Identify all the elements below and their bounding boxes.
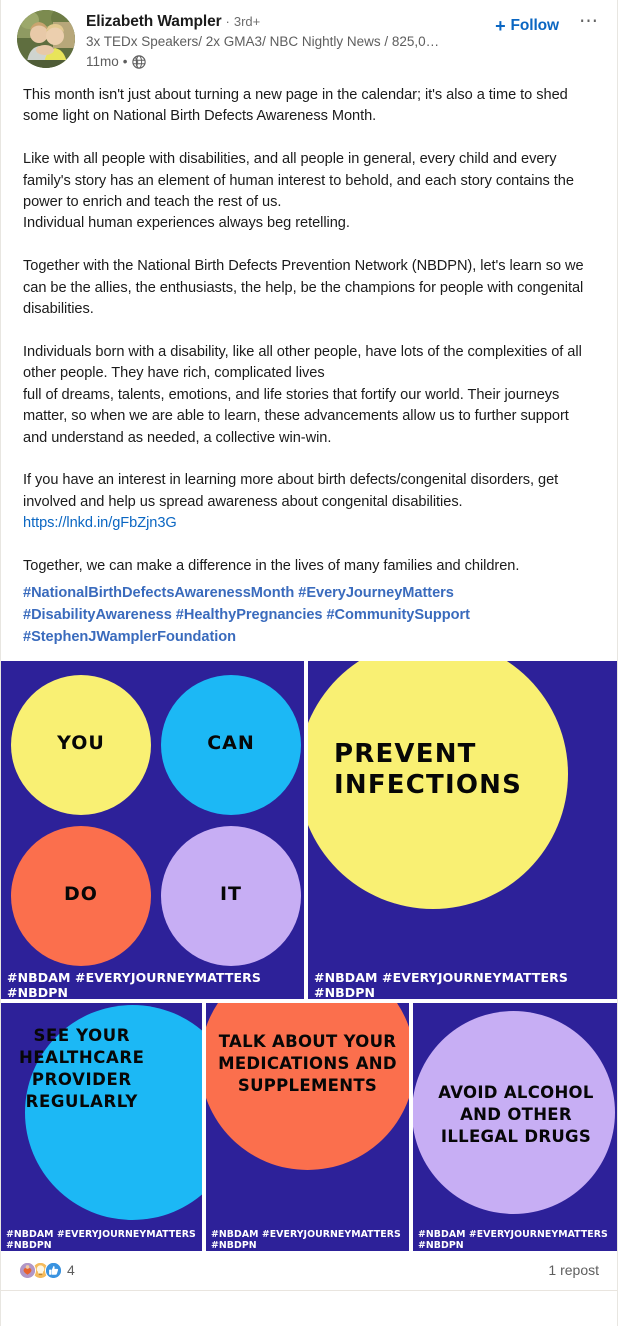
post-timestamp: 11mo [86, 52, 119, 71]
name-separator: · [222, 12, 234, 31]
social-counts-bar: 4 1 repost [1, 1251, 617, 1291]
panel-prevent-infections[interactable]: PREVENT INFECTIONS #NBDAM #EVERYJOURNEYM… [308, 661, 618, 999]
author-identity: Elizabeth Wampler · 3rd+ 3x TEDx Speaker… [75, 10, 493, 71]
hashtag-bar-3: #NBDAM #EVERYJOURNEYMATTERS #NBDPN [1, 1229, 202, 1251]
circle-do: DO [11, 826, 151, 966]
header-actions: + Follow ⋯ [493, 10, 603, 37]
post-text: This month isn't just about turning a ne… [1, 71, 617, 583]
post-header: Elizabeth Wampler · 3rd+ 3x TEDx Speaker… [1, 0, 617, 71]
paragraph-1: This month isn't just about turning a ne… [23, 87, 568, 124]
reactions-group[interactable]: 4 [19, 1262, 75, 1279]
meta-separator: • [119, 52, 132, 71]
panel-healthcare-label: SEE YOUR HEALTHCARE PROVIDER REGULARLY [1, 1025, 145, 1113]
avatar[interactable] [17, 10, 75, 68]
more-options-button[interactable]: ⋯ [575, 15, 603, 34]
connection-degree: 3rd+ [234, 12, 260, 31]
paragraph-4: Individuals born with a disability, like… [23, 344, 582, 446]
follow-button[interactable]: + Follow [493, 15, 561, 37]
support-heart-icon [19, 1262, 36, 1279]
plus-icon: + [495, 19, 505, 33]
paragraph-5-before-link: If you have an interest in learning more… [23, 472, 558, 509]
hashtag-bar-5: #NBDAM #EVERYJOURNEYMATTERS #NBDPN [413, 1229, 618, 1251]
paragraph-3: Together with the National Birth Defects… [23, 258, 584, 317]
circle-can: CAN [161, 675, 301, 815]
author-name[interactable]: Elizabeth Wampler [86, 12, 222, 31]
post-image-collage[interactable]: YOU CAN DO IT #NBDAM #EVERYJOURNEYMATTER… [1, 661, 618, 1251]
reaction-icons [19, 1262, 58, 1279]
globe-icon [132, 55, 146, 69]
hashtag-bar-4: #NBDAM #EVERYJOURNEYMATTERS #NBDPN [206, 1229, 409, 1251]
hashtag-bar-2: #NBDAM #EVERYJOURNEYMATTERS #NBDPN [308, 971, 618, 999]
circle-can-label: CAN [161, 732, 301, 755]
panel-prevent-infections-label: PREVENT INFECTIONS [308, 739, 522, 802]
collage-row-bottom: SEE YOUR HEALTHCARE PROVIDER REGULARLY #… [1, 1003, 618, 1251]
linkedin-post-card: Elizabeth Wampler · 3rd+ 3x TEDx Speaker… [0, 0, 618, 1326]
circle-do-label: DO [11, 883, 151, 906]
post-link[interactable]: https://lnkd.in/gFbZjn3G [23, 515, 177, 531]
follow-label: Follow [511, 17, 559, 35]
reaction-count: 4 [67, 1262, 75, 1278]
circle-you-label: YOU [11, 732, 151, 755]
paragraph-2: Like with all people with disabilities, … [23, 151, 574, 231]
collage-row-top: YOU CAN DO IT #NBDAM #EVERYJOURNEYMATTER… [1, 661, 618, 999]
panel-medications-label: TALK ABOUT YOUR MEDICATIONS AND SUPPLEME… [206, 1031, 409, 1097]
panel-avoid-alcohol-label: AVOID ALCOHOL AND OTHER ILLEGAL DRUGS [413, 1082, 618, 1148]
author-headline: 3x TEDx Speakers/ 2x GMA3/ NBC Nightly N… [86, 32, 446, 51]
panel-healthcare-provider[interactable]: SEE YOUR HEALTHCARE PROVIDER REGULARLY #… [1, 1003, 202, 1251]
like-thumb-icon [45, 1262, 62, 1279]
circle-it-label: IT [161, 883, 301, 906]
panel-avoid-alcohol[interactable]: AVOID ALCOHOL AND OTHER ILLEGAL DRUGS #N… [413, 1003, 618, 1251]
avatar-photo [17, 10, 75, 68]
author-name-row: Elizabeth Wampler · 3rd+ [86, 12, 493, 31]
panel-medications[interactable]: TALK ABOUT YOUR MEDICATIONS AND SUPPLEME… [206, 1003, 409, 1251]
repost-count[interactable]: 1 repost [548, 1262, 599, 1278]
hashtag-list[interactable]: #NationalBirthDefectsAwarenessMonth #Eve… [1, 583, 617, 660]
hashtag-bar-1: #NBDAM #EVERYJOURNEYMATTERS #NBDPN [1, 971, 304, 999]
circle-you: YOU [11, 675, 151, 815]
post-meta: 11mo • [86, 52, 493, 71]
circle-it: IT [161, 826, 301, 966]
panel-you-can-do-it[interactable]: YOU CAN DO IT #NBDAM #EVERYJOURNEYMATTER… [1, 661, 304, 999]
paragraph-6: Together, we can make a difference in th… [23, 558, 519, 574]
